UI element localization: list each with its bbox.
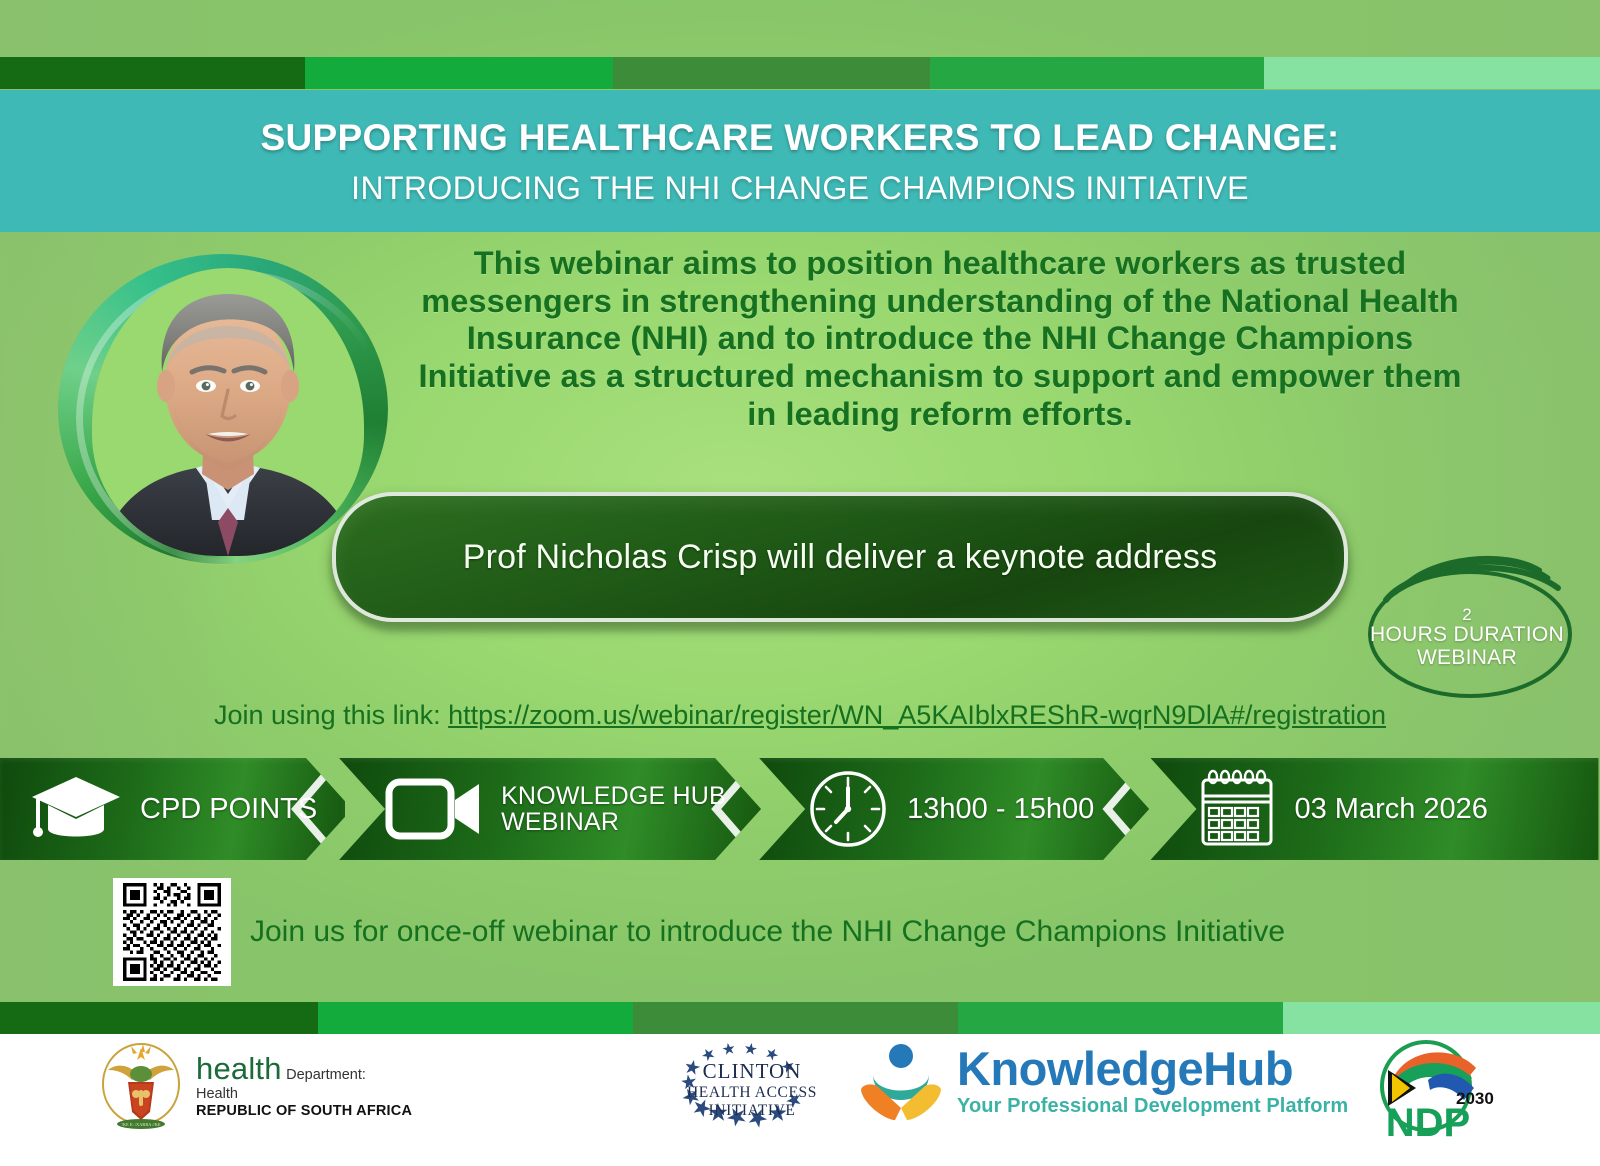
chai-stars-icon: CLINTON HEALTH ACCESS INITIATIVE: [670, 1036, 830, 1132]
health-logo-text: health Department: Health REPUBLIC OF SO…: [196, 1053, 412, 1119]
page-title: SUPPORTING HEALTHCARE WORKERS TO LEAD CH…: [261, 119, 1340, 156]
strip-block-1: [0, 57, 305, 89]
clock-icon: [805, 766, 891, 852]
logo-ndp-2030: 2030 NDP: [1368, 1032, 1496, 1144]
strip-block-3: [613, 57, 930, 89]
strip-bottom-block-5: [1283, 1002, 1600, 1034]
registration-link[interactable]: https://zoom.us/webinar/register/WN_A5KA…: [448, 700, 1386, 730]
page-subtitle: INTRODUCING THE NHI CHANGE CHAMPIONS INI…: [351, 172, 1249, 204]
strip-bottom-block-3: [633, 1002, 958, 1034]
chai-line2: HEALTH ACCESS: [687, 1084, 817, 1101]
knowledgehub-tagline: Your Professional Development Platform: [957, 1096, 1348, 1116]
strip-block-2: [305, 57, 613, 89]
health-department-line1: Department:: [286, 1067, 366, 1083]
tagline-text: Join us for once-off webinar to introduc…: [250, 915, 1450, 949]
knowledgehub-name-a: Knowledge: [957, 1042, 1203, 1095]
chai-line3: INITIATIVE: [709, 1102, 796, 1119]
intro-paragraph: This webinar aims to position healthcare…: [400, 245, 1480, 433]
chevron-separator-3: [1102, 758, 1156, 860]
duration-badge: 2 HOURS DURATION WEBINAR: [1352, 548, 1582, 708]
strip-bottom-block-1: [0, 1002, 318, 1034]
duration-number: 2: [1352, 606, 1582, 624]
info-label-time: 13h00 - 15h00: [907, 794, 1094, 825]
chai-line1: CLINTON: [703, 1059, 802, 1083]
info-item-date: 03 March 2026: [1150, 758, 1600, 860]
ndp-icon: 2030 NDP: [1368, 1032, 1496, 1144]
keynote-text: Prof Nicholas Crisp will deliver a keyno…: [463, 538, 1218, 577]
knowledgehub-person-icon: [855, 1034, 947, 1126]
info-label-webinar-line1: KNOWLEDGE HUB: [501, 782, 726, 810]
knowledgehub-name: KnowledgeHub: [957, 1042, 1293, 1095]
info-label-webinar: KNOWLEDGE HUB WEBINAR: [501, 783, 726, 836]
ndp-abbr: NDP: [1386, 1101, 1470, 1144]
graduation-cap-icon: [28, 769, 124, 849]
registration-qr-code[interactable]: [113, 878, 231, 986]
keynote-banner: Prof Nicholas Crisp will deliver a keyno…: [332, 492, 1348, 622]
strip-bottom-block-4: [958, 1002, 1283, 1034]
knowledgehub-name-b: Hub: [1203, 1042, 1293, 1095]
health-wordmark: health: [196, 1051, 282, 1086]
video-camera-icon: [385, 774, 485, 844]
chevron-separator-1: [291, 758, 345, 860]
duration-line3: WEBINAR: [1352, 647, 1582, 670]
bottom-color-strip: [0, 1002, 1600, 1034]
header-band: SUPPORTING HEALTHCARE WORKERS TO LEAD CH…: [0, 90, 1600, 232]
knowledgehub-wordmark: KnowledgeHub Your Professional Developme…: [957, 1045, 1348, 1116]
info-item-time: 13h00 - 15h00: [759, 758, 1156, 860]
info-chevron-bar: CPD POINTS KNOWLEDGE HUB WEBINAR: [0, 758, 1600, 860]
strip-block-4: [930, 57, 1264, 89]
calendar-icon: [1196, 766, 1278, 852]
info-item-webinar: KNOWLEDGE HUB WEBINAR: [339, 758, 765, 860]
health-department-line2: Health: [196, 1086, 238, 1102]
strip-bottom-block-2: [318, 1002, 633, 1034]
info-label-date: 03 March 2026: [1294, 794, 1487, 825]
join-link-label: Join using this link:: [214, 700, 448, 730]
info-item-cpd-points: CPD POINTS: [0, 758, 345, 860]
south-africa-coat-of-arms-icon: !KE E: /XARRA //KE: [100, 1040, 182, 1132]
info-label-cpd: CPD POINTS: [140, 794, 317, 825]
join-link-row: Join using this link: https://zoom.us/we…: [0, 700, 1600, 731]
logo-knowledgehub: KnowledgeHub Your Professional Developme…: [855, 1034, 1348, 1126]
svg-text:!KE E: /XARRA //KE: !KE E: /XARRA //KE: [121, 1122, 160, 1127]
strip-block-5: [1264, 57, 1600, 89]
logo-department-of-health: !KE E: /XARRA //KE health Department: He…: [100, 1040, 412, 1132]
logo-clinton-health-access-initiative: CLINTON HEALTH ACCESS INITIATIVE: [670, 1036, 830, 1132]
chevron-separator-2: [711, 758, 765, 860]
info-label-webinar-line2: WEBINAR: [501, 808, 619, 836]
top-color-strip: [0, 57, 1600, 89]
duration-line2: HOURS DURATION: [1352, 624, 1582, 647]
duration-text: 2 HOURS DURATION WEBINAR: [1352, 606, 1582, 670]
webinar-poster: SUPPORTING HEALTHCARE WORKERS TO LEAD CH…: [0, 0, 1600, 1166]
health-country-line: REPUBLIC OF SOUTH AFRICA: [196, 1103, 412, 1119]
